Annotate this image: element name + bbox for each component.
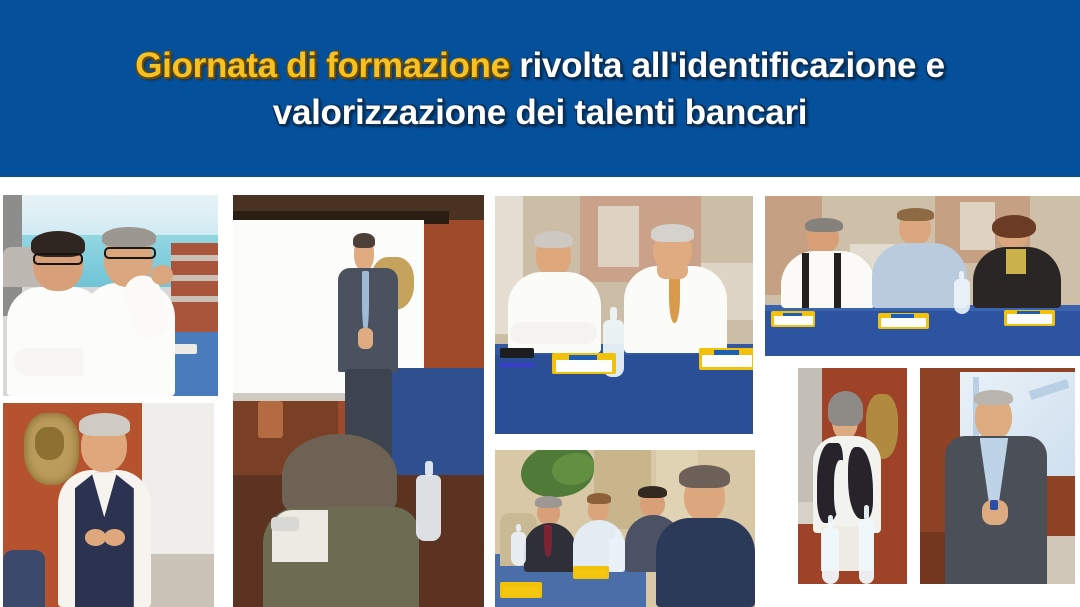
photo-speaker-projector (233, 195, 484, 607)
presentation-slide: Giornata di formazione rivolta all'ident… (0, 0, 1080, 607)
photo-woman-presenter (798, 368, 907, 584)
title-line-2: valorizzazione dei talenti bancari (273, 89, 807, 136)
title-line-1: Giornata di formazione rivolta all'ident… (135, 42, 945, 89)
title-highlight: Giornata di formazione (135, 46, 510, 85)
photo-elderly-speaker (920, 368, 1075, 584)
photo-panel-three (765, 196, 1080, 356)
photo-man-vest-crest (3, 403, 214, 607)
photo-two-men-seaside (3, 195, 218, 396)
photo-collage (0, 177, 1080, 607)
title-banner: Giornata di formazione rivolta all'ident… (0, 0, 1080, 177)
photo-two-seated-executives (495, 196, 753, 434)
title-rest: rivolta all'identificazione e (510, 46, 945, 85)
photo-audience-laughing (495, 450, 755, 607)
